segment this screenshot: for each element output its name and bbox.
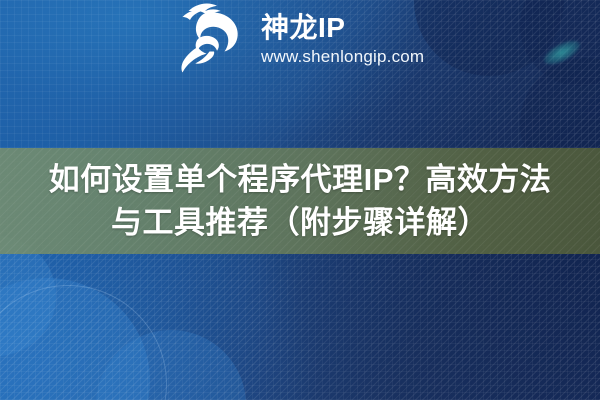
page-title-line-2: 与工具推荐（附步骤详解） <box>49 201 552 244</box>
decorative-circle-top-right-1 <box>414 0 564 76</box>
decorative-circle-ring <box>0 286 166 400</box>
decorative-circle-bottom-left-1 <box>0 278 150 400</box>
page-title: 如何设置单个程序代理IP？高效方法 与工具推荐（附步骤详解） <box>35 158 566 244</box>
teal-accent-highlight <box>540 36 583 70</box>
brand-url: www.shenlongip.com <box>261 46 424 67</box>
banner-image: 神龙IP www.shenlongip.com 如何设置单个程序代理IP？高效方… <box>0 0 600 400</box>
decorative-circle-bottom-left-2 <box>96 330 246 400</box>
brand-lockup: 神龙IP www.shenlongip.com <box>176 2 424 74</box>
brand-name: 神龙IP <box>261 13 424 42</box>
decorative-circle-bottom-left-3 <box>0 236 56 356</box>
dragon-head-logo-icon <box>176 2 252 74</box>
page-title-line-1: 如何设置单个程序代理IP？高效方法 <box>49 158 552 201</box>
decorative-circle-top-right-2 <box>520 0 600 86</box>
brand-text-block: 神龙IP www.shenlongip.com <box>261 9 424 67</box>
title-band: 如何设置单个程序代理IP？高效方法 与工具推荐（附步骤详解） <box>0 148 600 254</box>
